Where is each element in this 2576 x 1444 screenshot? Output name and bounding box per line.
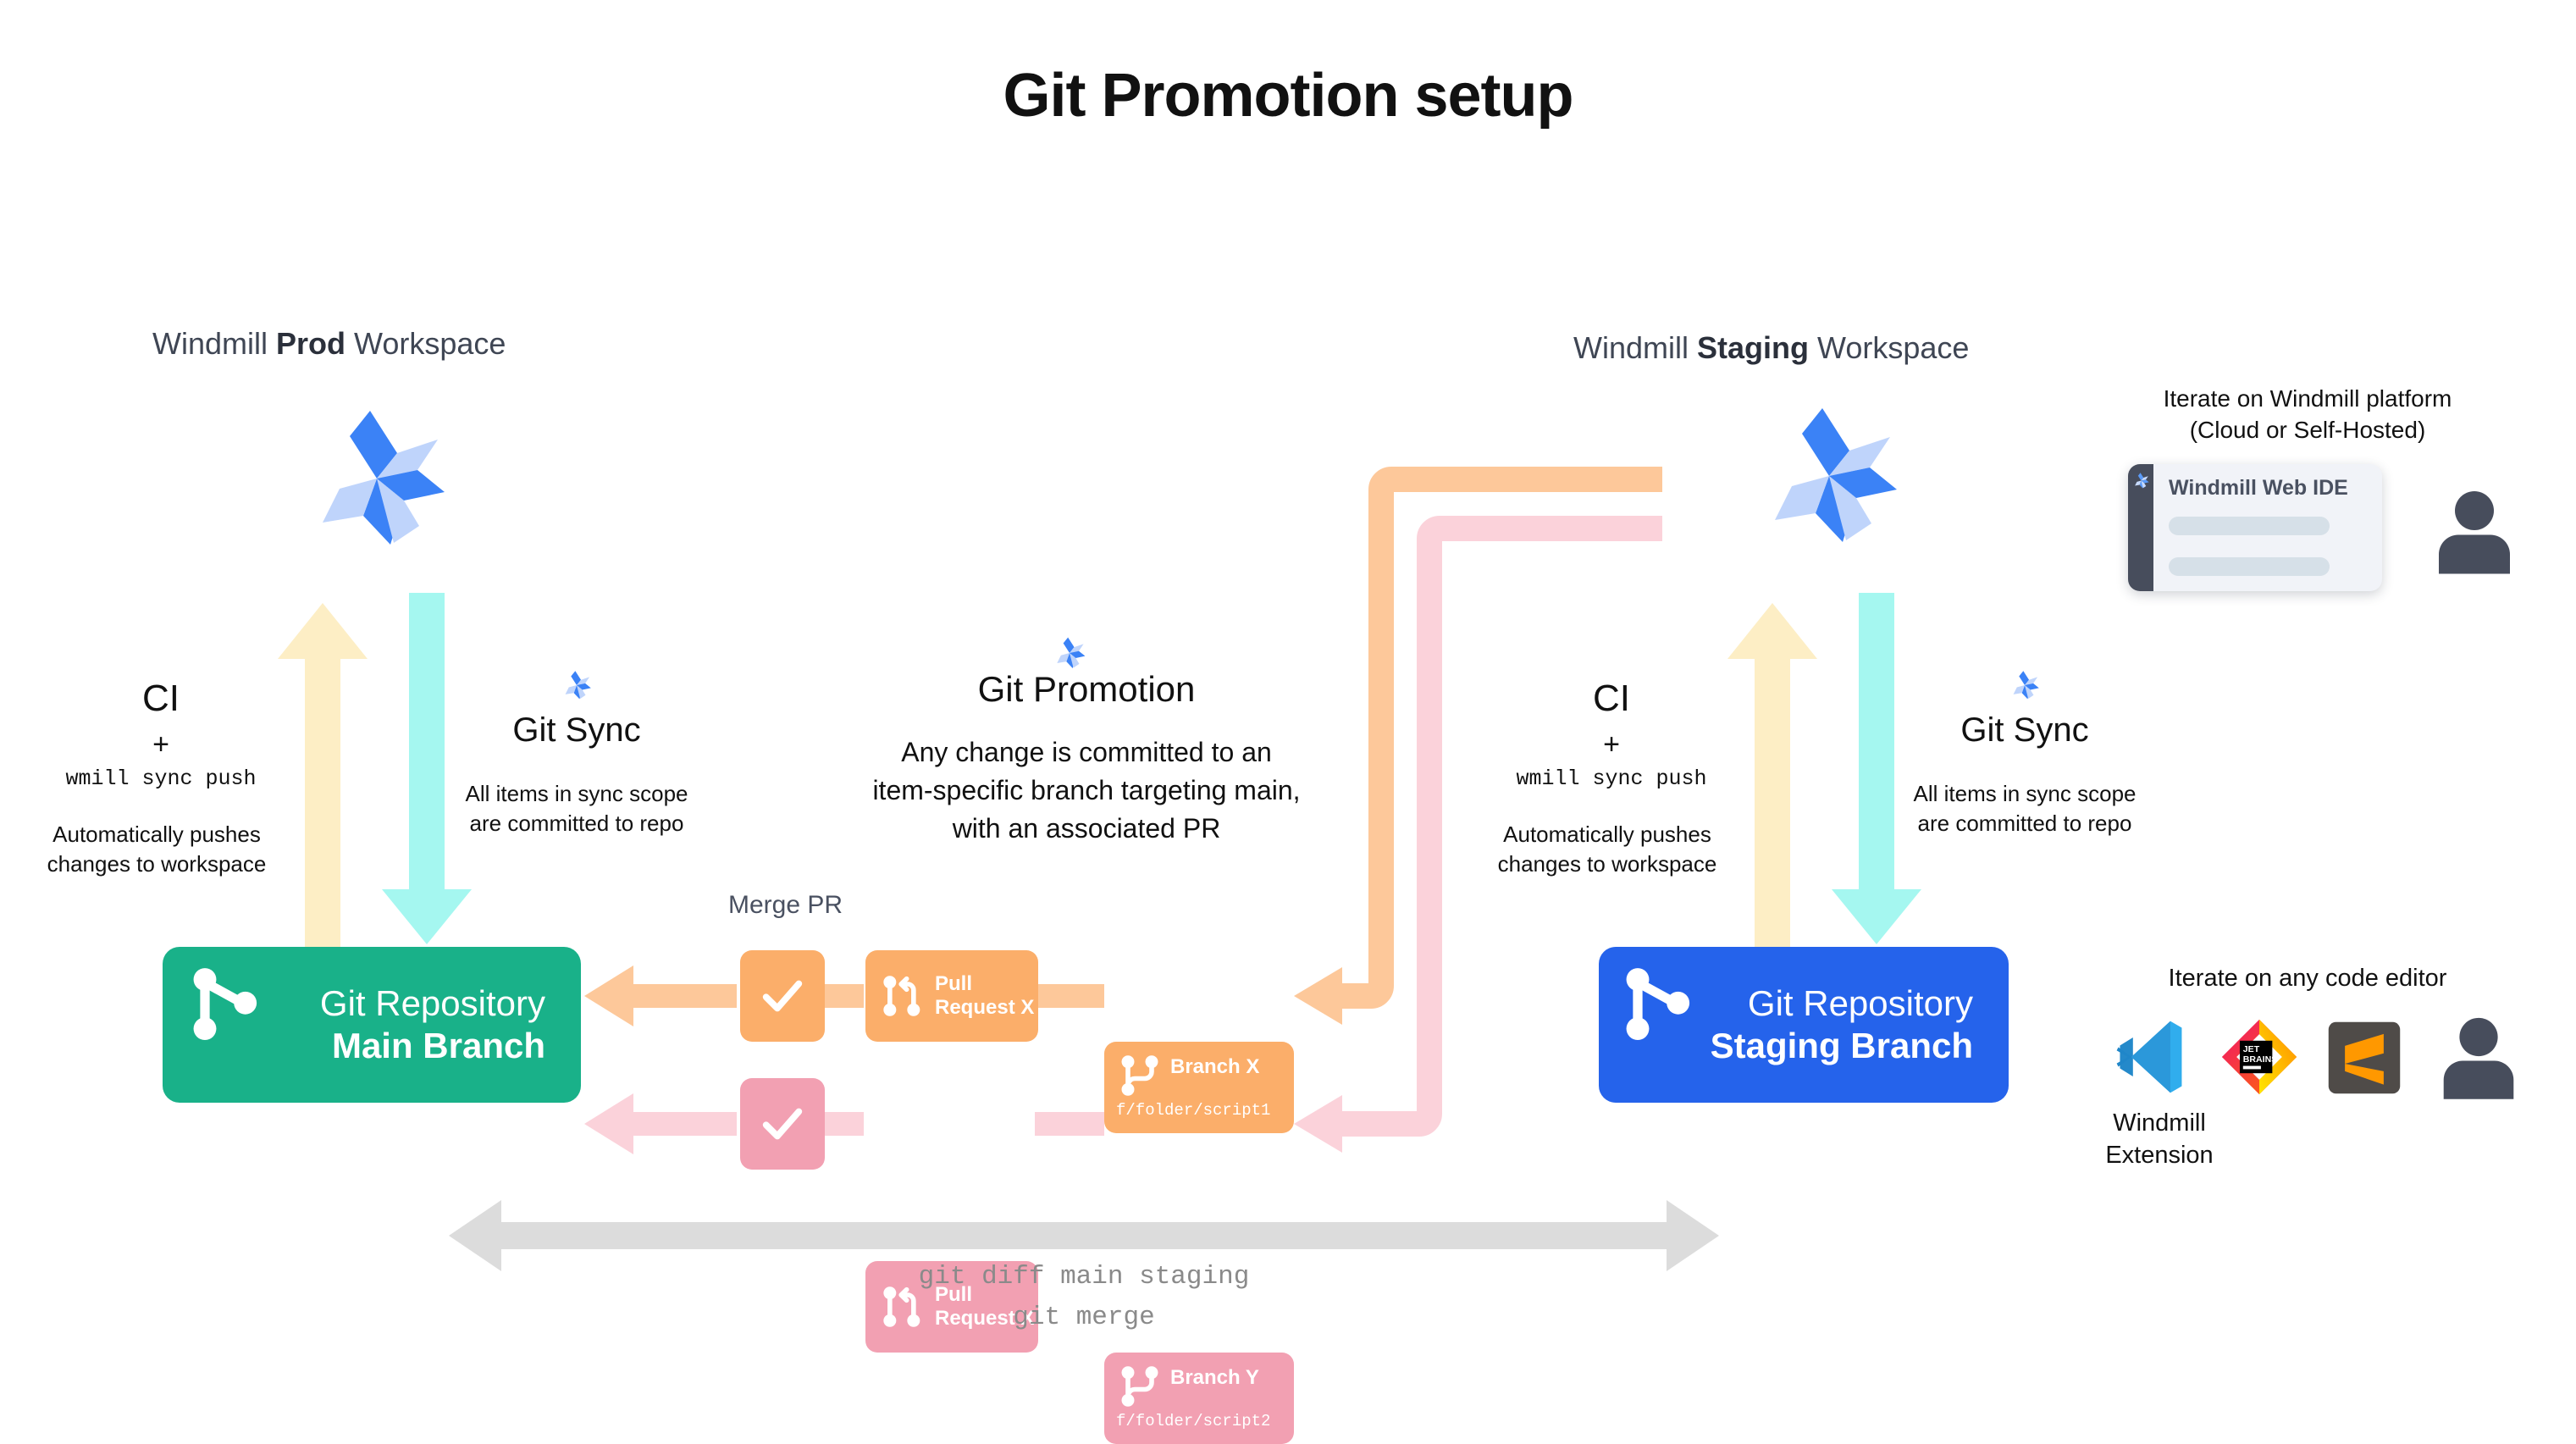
branch-x-box[interactable]: Branch X f/folder/script1 [1104, 1042, 1294, 1133]
ide-placeholder-bar [2169, 557, 2330, 576]
iterate-platform-caption-1: Iterate on Windmill platform [2109, 384, 2507, 414]
prod-ci-desc-1: Automatically pushes [0, 820, 313, 849]
merge-check-button[interactable] [740, 950, 825, 1042]
prod-gitsync-title: Git Sync [458, 711, 695, 750]
staging-ci-title: CI [1501, 678, 1722, 720]
pink-link-branch-pr [1035, 1112, 1104, 1136]
prod-ci-desc-2: changes to workspace [0, 849, 313, 879]
git-repo-main-box[interactable]: Git Repository Main Branch [163, 947, 581, 1103]
branch-x-label: Branch X [1170, 1055, 1259, 1079]
vscode-icon[interactable] [2109, 1016, 2190, 1098]
branch-y-path: f/folder/script2 [1116, 1412, 1270, 1430]
prod-ws-bold: Prod [276, 326, 345, 361]
pull-request-x-box[interactable]: Pull Request X [865, 950, 1038, 1042]
pink-merge-arrow [584, 1093, 737, 1154]
prod-workspace-title: Windmill Prod Workspace [152, 326, 506, 362]
prod-ws-suffix: Workspace [345, 326, 506, 361]
git-branch-icon [1116, 1052, 1164, 1099]
windmill-logo [1744, 391, 1914, 561]
person-icon [2424, 483, 2525, 584]
git-branch-icon [183, 960, 271, 1048]
svg-text:BRAINS: BRAINS [2243, 1054, 2277, 1065]
staging-ci-arrow [1727, 603, 1817, 991]
repo-main-line1: Git Repository [320, 983, 545, 1023]
repo-staging-line2: Staging Branch [1711, 1026, 1973, 1065]
windmill-small-icon [2131, 471, 2151, 490]
windmill-logo [292, 394, 462, 563]
orange-merge-arrow [584, 965, 737, 1026]
prod-gitsync-desc-2: are committed to repo [441, 809, 712, 838]
staging-ws-bold: Staging [1697, 330, 1809, 365]
branch-x-path: f/folder/script1 [1116, 1101, 1270, 1120]
prod-gitsync-desc-1: All items in sync scope [441, 779, 712, 809]
staging-ci-command: wmill sync push [1468, 766, 1755, 791]
staging-gitsync-desc-1: All items in sync scope [1889, 779, 2160, 809]
staging-ci-plus: + [1501, 728, 1722, 761]
pr1-line1: Pull [935, 972, 972, 995]
prod-ci-command: wmill sync push [17, 766, 305, 791]
staging-ws-prefix: Windmill [1573, 330, 1697, 365]
git-diff-command: git diff main staging [872, 1262, 1296, 1292]
repo-main-line2: Main Branch [332, 1026, 545, 1065]
prod-ci-arrow [278, 603, 368, 991]
ide-title: Windmill Web IDE [2169, 476, 2348, 501]
git-branch-icon [1116, 1363, 1164, 1410]
git-promotion-title: Git Promotion [849, 669, 1324, 710]
pull-request-x-label: Pull Request X [935, 972, 1034, 1019]
repo-staging-line1: Git Repository [1748, 983, 1973, 1023]
windmill-extension-label-2: Extension [2083, 1142, 2236, 1170]
check-icon [758, 1099, 807, 1148]
git-merge-command: git merge [872, 1303, 1296, 1332]
staging-gitsync-desc-2: are committed to repo [1889, 809, 2160, 838]
git-promotion-desc-2: item-specific branch targeting main, [765, 775, 1408, 806]
prod-ci-plus: + [51, 728, 271, 761]
git-promotion-desc-3: with an associated PR [765, 813, 1408, 844]
git-repo-main-label: Git Repository Main Branch [320, 982, 545, 1066]
git-repo-staging-label: Git Repository Staging Branch [1711, 982, 1973, 1066]
git-branch-icon [1616, 960, 1704, 1048]
svg-text:JET: JET [2243, 1044, 2260, 1054]
merge-pr-label: Merge PR [728, 891, 843, 920]
git-promotion-desc-1: Any change is committed to an [765, 737, 1408, 768]
staging-ci-desc-1: Automatically pushes [1451, 820, 1764, 849]
ide-placeholder-bar [2169, 517, 2330, 535]
git-repo-staging-box[interactable]: Git Repository Staging Branch [1599, 947, 2009, 1103]
orange-link-branch-pr [1035, 984, 1104, 1008]
git-diff-arrow [449, 1200, 1719, 1271]
windmill-small-icon [559, 667, 594, 703]
iterate-platform-caption-2: (Cloud or Self-Hosted) [2109, 415, 2507, 445]
pull-request-icon [879, 972, 926, 1020]
branch-y-box[interactable]: Branch Y f/folder/script2 [1104, 1353, 1294, 1444]
prod-ci-title: CI [51, 678, 271, 720]
staging-ws-suffix: Workspace [1809, 330, 1969, 365]
jetbrains-icon[interactable]: JET BRAINS [2219, 1016, 2300, 1098]
prod-gitsync-arrow [382, 593, 472, 944]
staging-ci-desc-2: changes to workspace [1451, 849, 1764, 879]
staging-gitsync-arrow [1832, 593, 1921, 944]
merge-check-button[interactable] [740, 1078, 825, 1170]
windmill-web-ide-card[interactable]: Windmill Web IDE [2128, 464, 2382, 591]
person-icon [2429, 1010, 2529, 1109]
pr1-line2: Request X [935, 996, 1034, 1019]
prod-ws-prefix: Windmill [152, 326, 276, 361]
staging-workspace-title: Windmill Staging Workspace [1573, 330, 1969, 366]
windmill-small-icon [1050, 633, 1089, 672]
check-icon [758, 971, 807, 1021]
sublime-text-icon[interactable] [2327, 1021, 2402, 1095]
windmill-small-icon [2007, 667, 2043, 703]
windmill-extension-label-1: Windmill [2083, 1109, 2236, 1137]
staging-gitsync-title: Git Sync [1906, 711, 2143, 750]
branch-y-label: Branch Y [1170, 1366, 1259, 1390]
iterate-editor-caption: Iterate on any code editor [2109, 963, 2507, 995]
